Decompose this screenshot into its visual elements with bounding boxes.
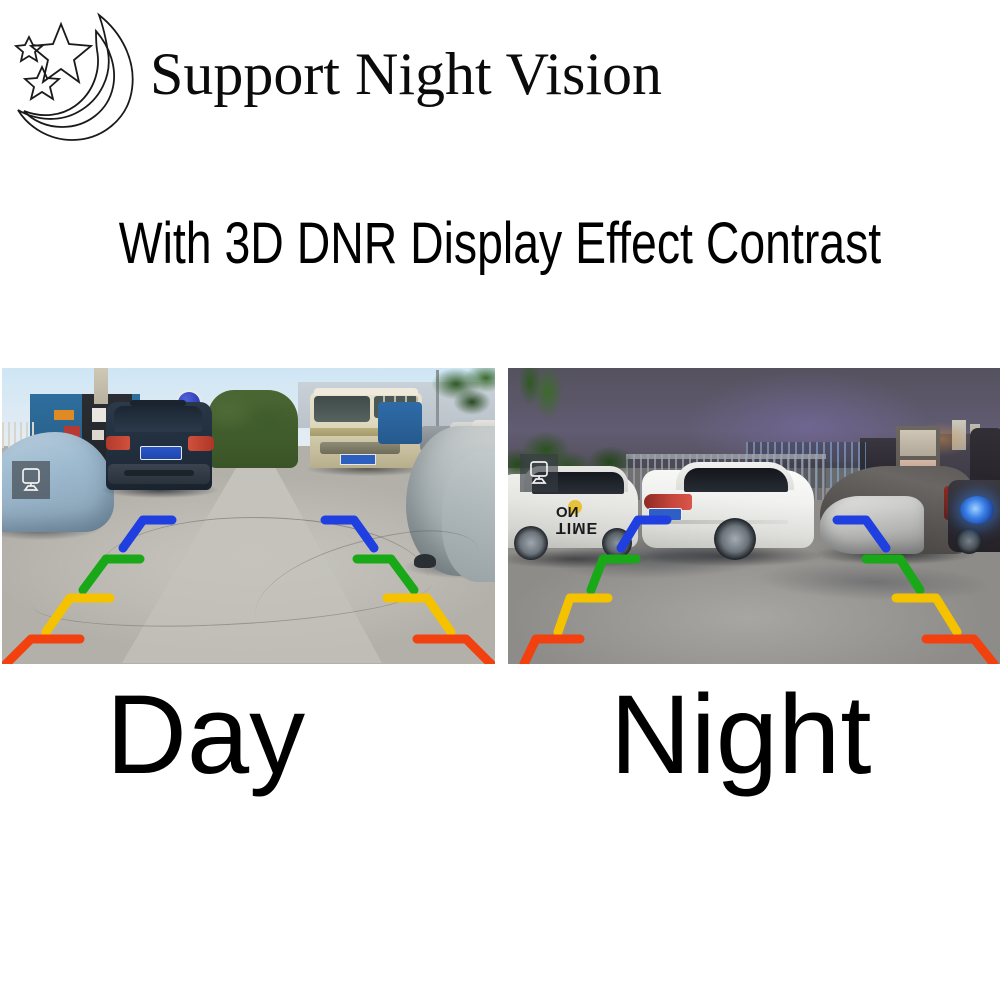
crescent-moon-stars-icon (4, 6, 146, 146)
yellow-guide-line-right (387, 598, 451, 632)
orange-guide-line-right (926, 639, 994, 664)
orange-guide-line-left (6, 639, 80, 664)
header: Support Night Vision (0, 0, 1000, 150)
orange-guide-line-right (417, 639, 491, 664)
blue-guide-line-right (325, 520, 374, 548)
yellow-guide-line-right (896, 598, 957, 632)
day-camera-view (2, 368, 495, 664)
yellow-guide-line-left (558, 598, 608, 632)
rear-view-camera-icon (12, 461, 50, 499)
blue-guide-line-right (837, 520, 886, 548)
caption-night: Night (610, 672, 871, 798)
green-guide-line-right (866, 559, 920, 590)
green-guide-line-right (357, 559, 414, 590)
green-guide-line-left (591, 559, 636, 590)
parking-guide-lines-night (508, 368, 1000, 664)
orange-guide-line-left (524, 639, 580, 664)
panel-captions: Day Night (0, 672, 1000, 822)
subtitle: With 3D DNR Display Effect Contrast (100, 213, 900, 275)
night-camera-view: NO TIME (508, 368, 1000, 664)
green-guide-line-left (83, 559, 140, 590)
yellow-guide-line-left (46, 598, 110, 632)
blue-guide-line-left (621, 520, 667, 548)
blue-guide-line-left (123, 520, 172, 548)
parking-guide-lines-day (2, 368, 495, 664)
caption-day: Day (106, 672, 305, 798)
rear-view-camera-icon (520, 454, 558, 492)
comparison-panels: NO TIME (0, 368, 1000, 664)
page-title: Support Night Vision (150, 44, 662, 104)
